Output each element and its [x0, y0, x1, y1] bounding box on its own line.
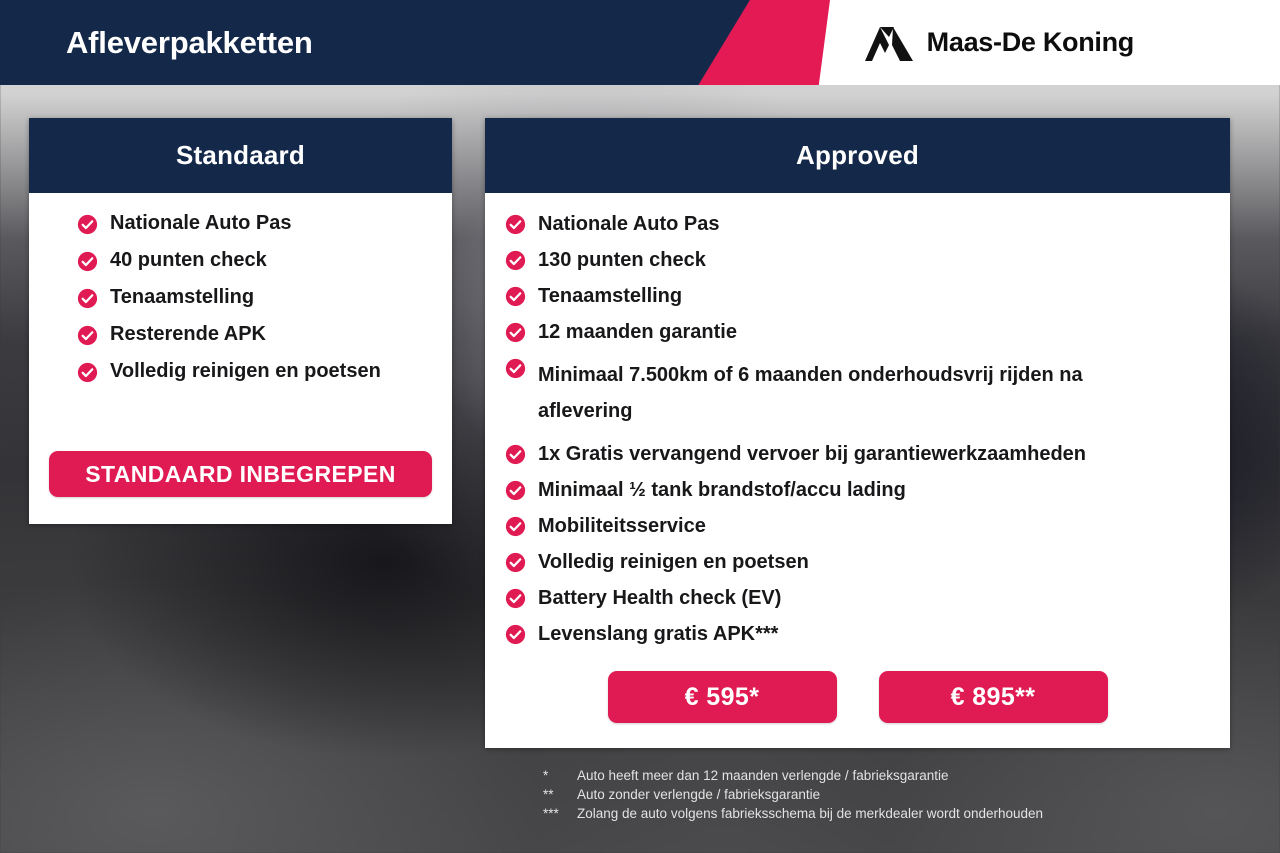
feature-label: Tenaamstelling — [538, 285, 682, 307]
feature-label: 40 punten check — [110, 250, 267, 271]
feature-label: Resterende APK — [110, 324, 266, 345]
card-header-approved: Approved — [485, 118, 1230, 193]
list-item: 40 punten check — [77, 250, 452, 272]
package-card-approved: Approved Nationale Auto Pas 130 punten c… — [485, 118, 1230, 748]
list-item: 1x Gratis vervangend vervoer bij garanti… — [505, 443, 1230, 465]
price-button-row: € 595* € 895** — [485, 671, 1230, 723]
page-title: Afleverpakketten — [66, 0, 313, 85]
check-circle-icon — [505, 322, 526, 343]
feature-label: Nationale Auto Pas — [110, 213, 292, 234]
feature-label: Volledig reinigen en poetsen — [110, 361, 381, 382]
list-item: Resterende APK — [77, 324, 452, 346]
feature-label: 1x Gratis vervangend vervoer bij garanti… — [538, 443, 1086, 465]
footnote-text: Auto zonder verlengde / fabrieksgarantie — [577, 785, 820, 804]
list-item: Tenaamstelling — [77, 287, 452, 309]
feature-label: Minimaal 7.500km of 6 maanden onderhouds… — [538, 357, 1105, 429]
brand-name: Maas-De Koning — [927, 27, 1134, 58]
feature-label: Volledig reinigen en poetsen — [538, 551, 809, 573]
price-button-895[interactable]: € 895** — [879, 671, 1108, 723]
list-item: Minimaal ½ tank brandstof/accu lading — [505, 479, 1230, 501]
footnote-text: Auto heeft meer dan 12 maanden verlengde… — [577, 766, 949, 785]
feature-label: 130 punten check — [538, 249, 706, 271]
check-circle-icon — [77, 325, 98, 346]
check-circle-icon — [505, 624, 526, 645]
check-circle-icon — [505, 516, 526, 537]
price-button-595[interactable]: € 595* — [608, 671, 837, 723]
list-item: Tenaamstelling — [505, 285, 1230, 307]
list-item: Volledig reinigen en poetsen — [505, 551, 1230, 573]
standaard-inbegrepen-button[interactable]: STANDAARD INBEGREPEN — [49, 451, 432, 497]
check-circle-icon — [505, 444, 526, 465]
card-title-approved: Approved — [796, 140, 919, 171]
card-header-standaard: Standaard — [29, 118, 452, 193]
feature-label: Levenslang gratis APK*** — [538, 623, 778, 645]
footnote-3: *** Zolang de auto volgens fabrieksschem… — [543, 804, 1043, 823]
check-circle-icon — [505, 286, 526, 307]
feature-label: Mobiliteitsservice — [538, 515, 706, 537]
package-card-standaard: Standaard Nationale Auto Pas 40 punten c… — [29, 118, 452, 524]
feature-list-approved: Nationale Auto Pas 130 punten check Tena… — [485, 213, 1230, 645]
check-circle-icon — [77, 251, 98, 272]
check-circle-icon — [505, 358, 526, 379]
footnote-marker: * — [543, 766, 577, 785]
list-item: Nationale Auto Pas — [505, 213, 1230, 235]
card-body-approved: Nationale Auto Pas 130 punten check Tena… — [485, 193, 1230, 645]
feature-label: Battery Health check (EV) — [538, 587, 781, 609]
footnote-marker: ** — [543, 785, 577, 804]
card-title-standaard: Standaard — [176, 140, 305, 171]
footnote-1: * Auto heeft meer dan 12 maanden verleng… — [543, 766, 1043, 785]
maas-de-koning-m-logo-icon — [863, 23, 915, 63]
card-body-standaard: Nationale Auto Pas 40 punten check Tenaa… — [29, 193, 452, 383]
check-circle-icon — [77, 214, 98, 235]
feature-list-standaard: Nationale Auto Pas 40 punten check Tenaa… — [29, 213, 452, 383]
list-item: 12 maanden garantie — [505, 321, 1230, 343]
footnote-text: Zolang de auto volgens fabrieksschema bi… — [577, 804, 1043, 823]
page-header: Afleverpakketten Maas-De Koning — [0, 0, 1280, 85]
list-item: Levenslang gratis APK*** — [505, 623, 1230, 645]
feature-label: Tenaamstelling — [110, 287, 254, 308]
footnote-2: ** Auto zonder verlengde / fabrieksgaran… — [543, 785, 1043, 804]
check-circle-icon — [77, 288, 98, 309]
brand-logo: Maas-De Koning — [863, 0, 1134, 85]
check-circle-icon — [77, 362, 98, 383]
footnote-marker: *** — [543, 804, 577, 823]
check-circle-icon — [505, 480, 526, 501]
list-item: Mobiliteitsservice — [505, 515, 1230, 537]
list-item: 130 punten check — [505, 249, 1230, 271]
check-circle-icon — [505, 214, 526, 235]
check-circle-icon — [505, 552, 526, 573]
feature-label: Nationale Auto Pas — [538, 213, 720, 235]
list-item: Minimaal 7.500km of 6 maanden onderhouds… — [505, 357, 1105, 429]
list-item: Battery Health check (EV) — [505, 587, 1230, 609]
feature-label: 12 maanden garantie — [538, 321, 737, 343]
feature-label: Minimaal ½ tank brandstof/accu lading — [538, 479, 906, 501]
list-item: Nationale Auto Pas — [77, 213, 452, 235]
check-circle-icon — [505, 588, 526, 609]
list-item: Volledig reinigen en poetsen — [77, 361, 452, 383]
footnotes: * Auto heeft meer dan 12 maanden verleng… — [543, 766, 1043, 823]
check-circle-icon — [505, 250, 526, 271]
